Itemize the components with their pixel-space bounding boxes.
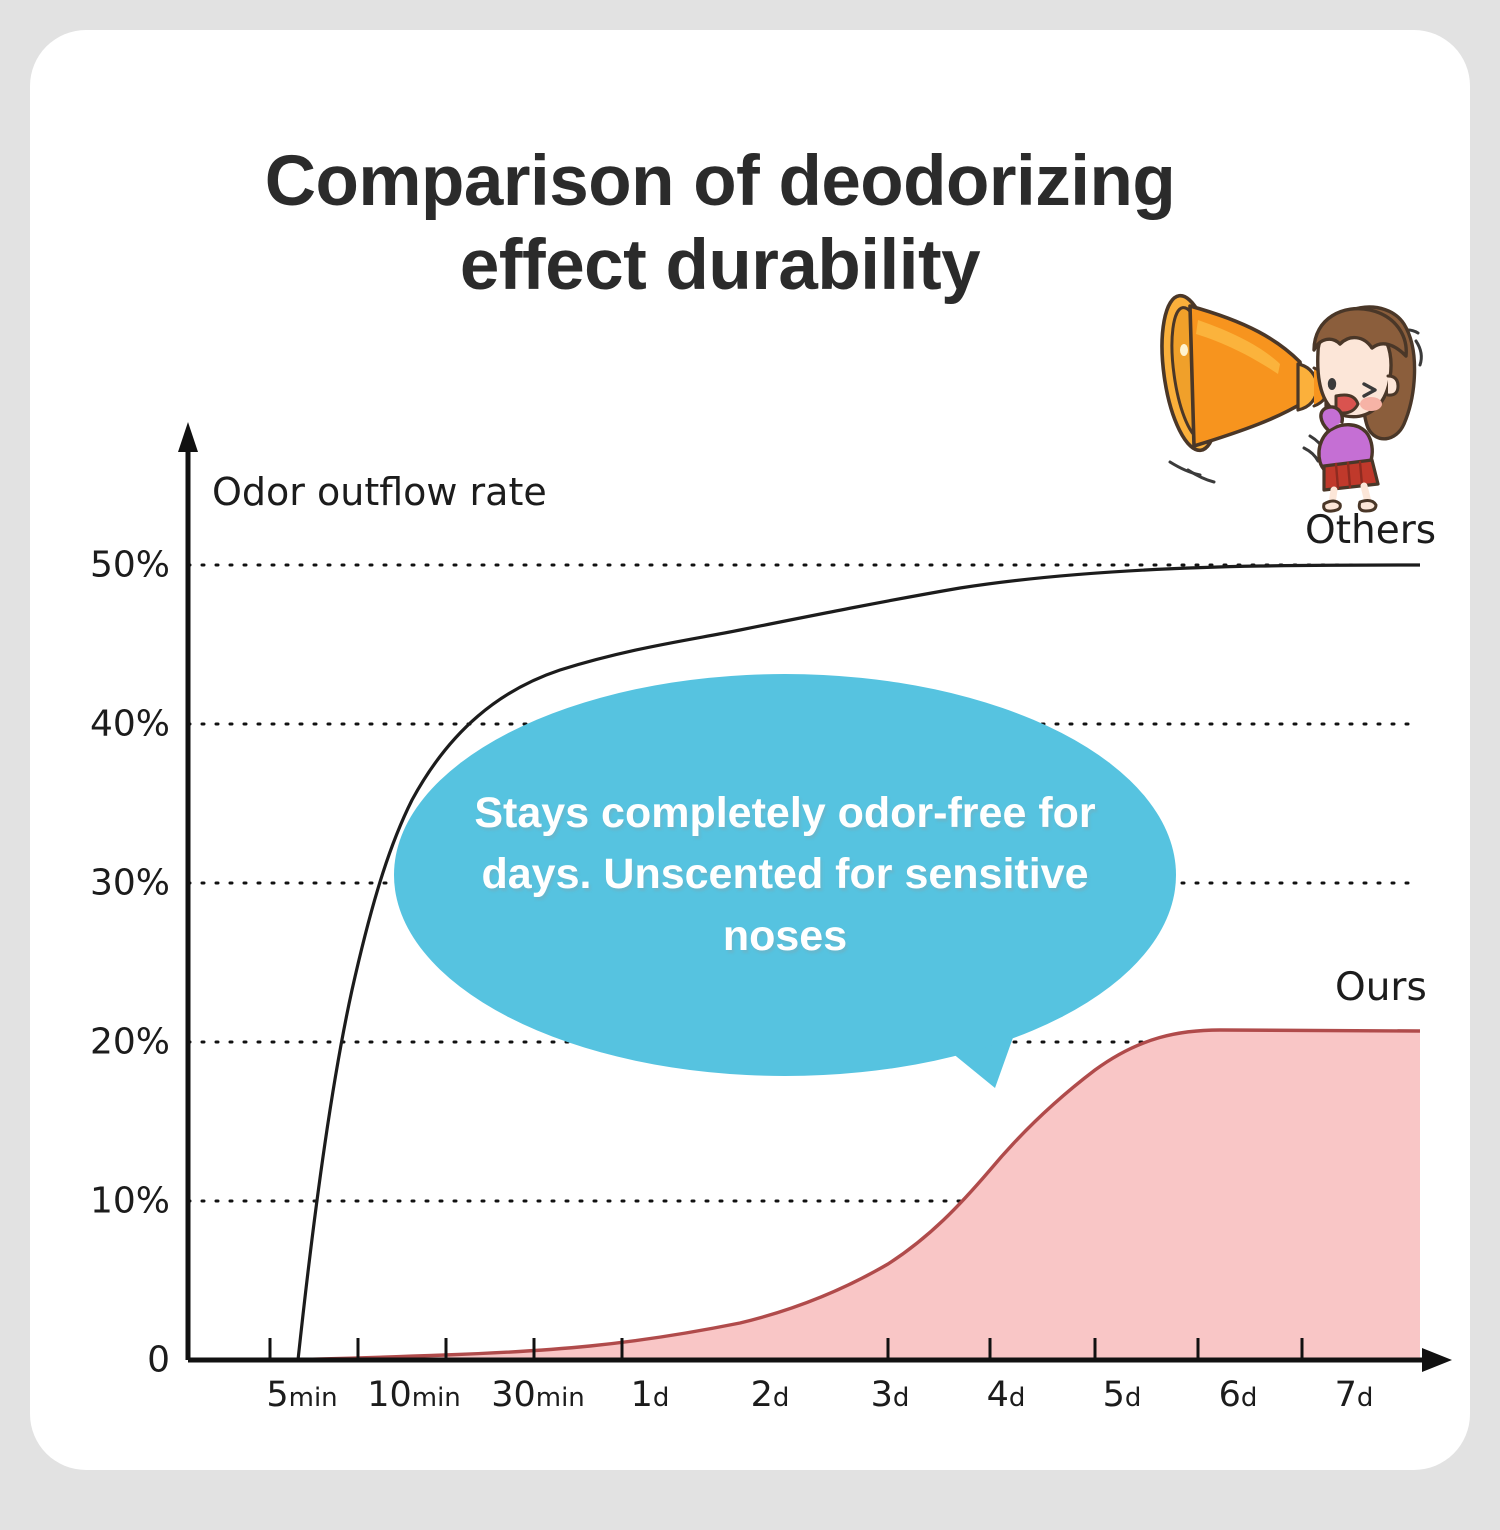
x-tick-4d: 4d: [987, 1375, 1026, 1415]
y-tick-10: 10%: [90, 1181, 170, 1222]
x-tick-value: 5: [1103, 1375, 1125, 1415]
x-tick-value: 7: [1335, 1375, 1357, 1415]
callout-text: Stays completely odor-free for days. Uns…: [394, 674, 1176, 1076]
x-axis-ticks: [270, 1338, 1302, 1360]
x-tick-value: 6: [1219, 1375, 1241, 1415]
x-tick-value: 3: [871, 1375, 893, 1415]
x-tick-unit: d: [1357, 1383, 1374, 1413]
x-tick-1d: 1d: [631, 1375, 670, 1415]
x-tick-10min: 10min: [367, 1375, 461, 1415]
y-axis-title: Odor outflow rate: [212, 470, 547, 514]
chart-card: Comparison of deodorizing effect durabil…: [30, 30, 1470, 1470]
y-tick-30: 30%: [90, 863, 170, 904]
x-tick-value: 1: [631, 1375, 653, 1415]
x-tick-unit: d: [1009, 1383, 1026, 1413]
series-label-others: Others: [1305, 508, 1436, 553]
x-tick-value: 5: [266, 1375, 288, 1415]
y-tick-40: 40%: [90, 704, 170, 745]
x-tick-5min: 5min: [266, 1375, 337, 1415]
series-ours-area: [270, 1030, 1420, 1360]
callout-container: Stays completely odor-free for days. Uns…: [394, 674, 1176, 1076]
x-tick-30min: 30min: [491, 1375, 585, 1415]
x-tick-6d: 6d: [1219, 1375, 1258, 1415]
x-tick-value: 4: [987, 1375, 1009, 1415]
x-tick-value: 30: [491, 1375, 536, 1415]
x-tick-unit: min: [412, 1383, 461, 1413]
x-tick-3d: 3d: [871, 1375, 910, 1415]
x-tick-5d: 5d: [1103, 1375, 1142, 1415]
page-title: Comparison of deodorizing effect durabil…: [170, 140, 1270, 308]
x-tick-unit: d: [893, 1383, 910, 1413]
series-ours-line: [270, 1030, 1420, 1360]
y-tick-20: 20%: [90, 1022, 170, 1063]
series-label-ours: Ours: [1335, 965, 1427, 1010]
y-axis-tick-labels: 50% 40% 30% 20% 10% 0: [30, 30, 170, 1430]
x-tick-value: 2: [751, 1375, 773, 1415]
x-tick-7d: 7d: [1335, 1375, 1374, 1415]
y-tick-0: 0: [147, 1340, 170, 1381]
x-tick-unit: min: [289, 1383, 338, 1413]
x-tick-unit: min: [536, 1383, 585, 1413]
x-tick-unit: d: [653, 1383, 670, 1413]
x-tick-unit: d: [773, 1383, 790, 1413]
x-tick-value: 10: [367, 1375, 412, 1415]
girl-with-megaphone-illustration: [1128, 278, 1458, 518]
y-tick-50: 50%: [90, 545, 170, 586]
x-tick-unit: d: [1241, 1383, 1258, 1413]
x-tick-unit: d: [1125, 1383, 1142, 1413]
x-tick-2d: 2d: [751, 1375, 790, 1415]
